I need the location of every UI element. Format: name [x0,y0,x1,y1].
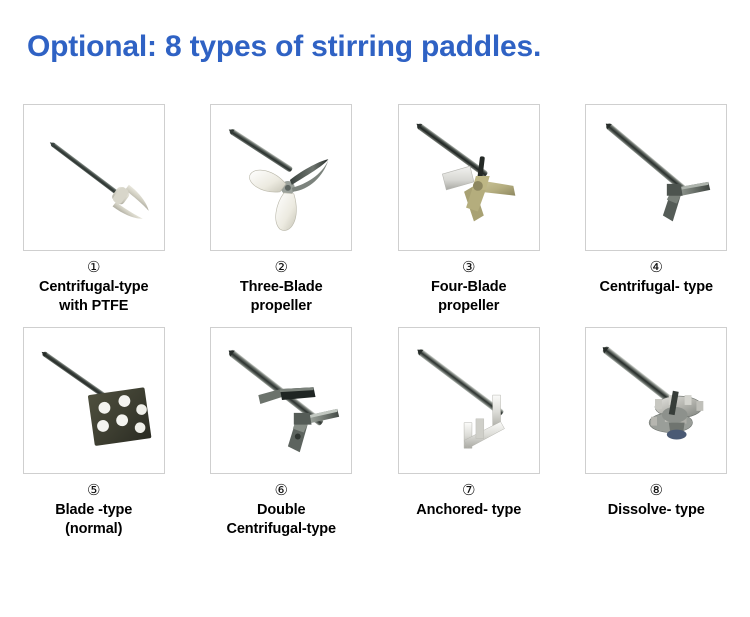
paddle-number-8: ⑧ [650,481,663,499]
paddle-number-7: ⑦ [462,481,475,499]
centrifugal-ptfe-paddle-icon [24,105,164,250]
blade-normal-paddle-icon [24,328,164,473]
paddle-item-2[interactable]: ② Three-Blade propeller [188,104,376,316]
paddle-caption-1-line2: with PTFE [59,298,128,314]
paddle-caption-2: Three-Blade propeller [191,278,371,316]
paddle-item-7[interactable]: ⑦ Anchored- type [375,327,563,539]
paddle-number-6: ⑥ [275,481,288,499]
paddle-item-6[interactable]: ⑥ Double Centrifugal-type [188,327,376,539]
paddle-thumb-6[interactable] [210,327,352,474]
paddle-caption-8-line1: Dissolve- type [608,502,705,518]
paddle-number-2: ② [275,258,288,276]
stirring-paddles-page: Optional: 8 types of stirring paddles. [0,0,750,617]
paddle-item-4[interactable]: ④ Centrifugal- type [563,104,750,316]
three-blade-propeller-icon [211,105,351,250]
paddle-thumb-1[interactable] [23,104,165,251]
paddle-item-8[interactable]: ⑧ Dissolve- type [563,327,750,539]
four-blade-propeller-icon [399,105,539,250]
page-title: Optional: 8 types of stirring paddles. [27,30,541,64]
paddle-caption-7-line1: Anchored- type [416,502,521,518]
paddle-caption-4-line1: Centrifugal- type [599,279,713,295]
paddle-thumb-5[interactable] [23,327,165,474]
paddle-caption-5: Blade -type (normal) [4,501,184,539]
paddle-number-4: ④ [650,258,663,276]
centrifugal-paddle-icon [586,105,726,250]
paddle-caption-3: Four-Blade propeller [379,278,559,316]
paddle-caption-4: Centrifugal- type [566,278,746,297]
paddle-thumb-2[interactable] [210,104,352,251]
paddle-caption-2-line2: propeller [251,298,312,314]
paddle-caption-6: Double Centrifugal-type [191,501,371,539]
anchored-paddle-icon [399,328,539,473]
paddle-caption-6-line1: Double [257,502,306,518]
paddle-caption-3-line2: propeller [438,298,499,314]
paddle-grid-row-2: ⑤ Blade -type (normal) [0,327,750,539]
dissolve-paddle-icon [586,328,726,473]
paddle-thumb-8[interactable] [585,327,727,474]
paddle-number-3: ③ [462,258,475,276]
paddle-item-5[interactable]: ⑤ Blade -type (normal) [0,327,188,539]
paddle-number-1: ① [87,258,100,276]
paddle-caption-6-line2: Centrifugal-type [226,521,336,537]
paddle-thumb-7[interactable] [398,327,540,474]
paddle-grid: ① Centrifugal-type with PTFE [0,104,750,539]
paddle-caption-1-line1: Centrifugal-type [39,279,149,295]
paddle-caption-5-line1: Blade -type [55,502,132,518]
double-centrifugal-paddle-icon [211,328,351,473]
paddle-caption-3-line1: Four-Blade [431,279,507,295]
paddle-item-3[interactable]: ③ Four-Blade propeller [375,104,563,316]
paddle-caption-8: Dissolve- type [566,501,746,520]
paddle-caption-7: Anchored- type [379,501,559,520]
paddle-caption-1: Centrifugal-type with PTFE [4,278,184,316]
paddle-number-5: ⑤ [87,481,100,499]
paddle-grid-row-1: ① Centrifugal-type with PTFE [0,104,750,316]
paddle-thumb-4[interactable] [585,104,727,251]
paddle-caption-5-line2: (normal) [65,521,122,537]
paddle-item-1[interactable]: ① Centrifugal-type with PTFE [0,104,188,316]
paddle-thumb-3[interactable] [398,104,540,251]
paddle-caption-2-line1: Three-Blade [240,279,323,295]
